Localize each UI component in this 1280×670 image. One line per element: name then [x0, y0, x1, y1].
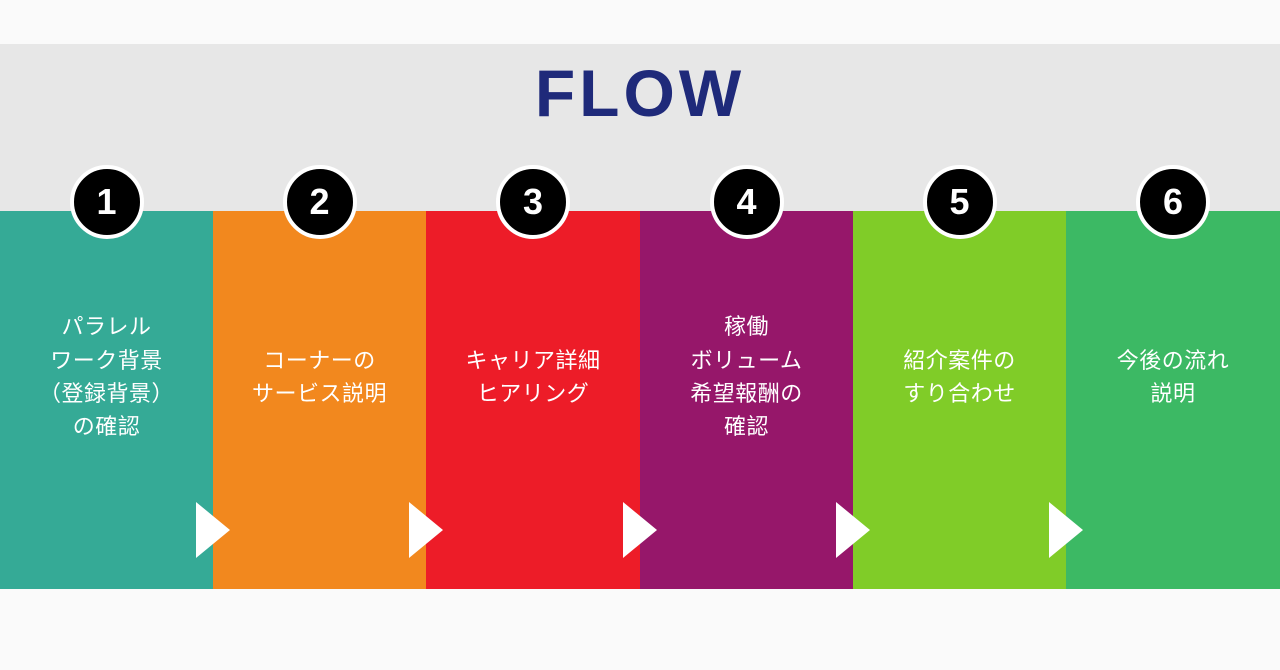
step-number-badge: 3 — [496, 165, 570, 239]
step-column[interactable]: 1パラレル ワーク背景 （登録背景） の確認 — [0, 211, 213, 589]
step-label: キャリア詳細 ヒアリング — [426, 211, 640, 589]
page-title: FLOW — [0, 60, 1280, 126]
step-column[interactable]: 4稼働 ボリューム 希望報酬の 確認 — [640, 211, 853, 589]
step-label: コーナーの サービス説明 — [213, 211, 426, 589]
step-label: パラレル ワーク背景 （登録背景） の確認 — [0, 211, 213, 589]
step-arrow-icon — [409, 502, 443, 558]
step-column[interactable]: 5紹介案件の すり合わせ — [853, 211, 1066, 589]
step-arrow-icon — [196, 502, 230, 558]
step-arrow-icon — [836, 502, 870, 558]
flow-diagram-page: FLOW 1パラレル ワーク背景 （登録背景） の確認2コーナーの サービス説明… — [0, 0, 1280, 670]
step-column[interactable]: 2コーナーの サービス説明 — [213, 211, 426, 589]
step-column[interactable]: 3キャリア詳細 ヒアリング — [426, 211, 640, 589]
step-label: 紹介案件の すり合わせ — [853, 211, 1066, 589]
step-number-badge: 1 — [70, 165, 144, 239]
step-number-badge: 6 — [1136, 165, 1210, 239]
step-number-badge: 2 — [283, 165, 357, 239]
step-label: 今後の流れ 説明 — [1066, 211, 1280, 589]
step-label: 稼働 ボリューム 希望報酬の 確認 — [640, 211, 853, 589]
step-arrow-icon — [623, 502, 657, 558]
step-number-badge: 5 — [923, 165, 997, 239]
step-column[interactable]: 6今後の流れ 説明 — [1066, 211, 1280, 589]
step-arrow-icon — [1049, 502, 1083, 558]
step-number-badge: 4 — [710, 165, 784, 239]
